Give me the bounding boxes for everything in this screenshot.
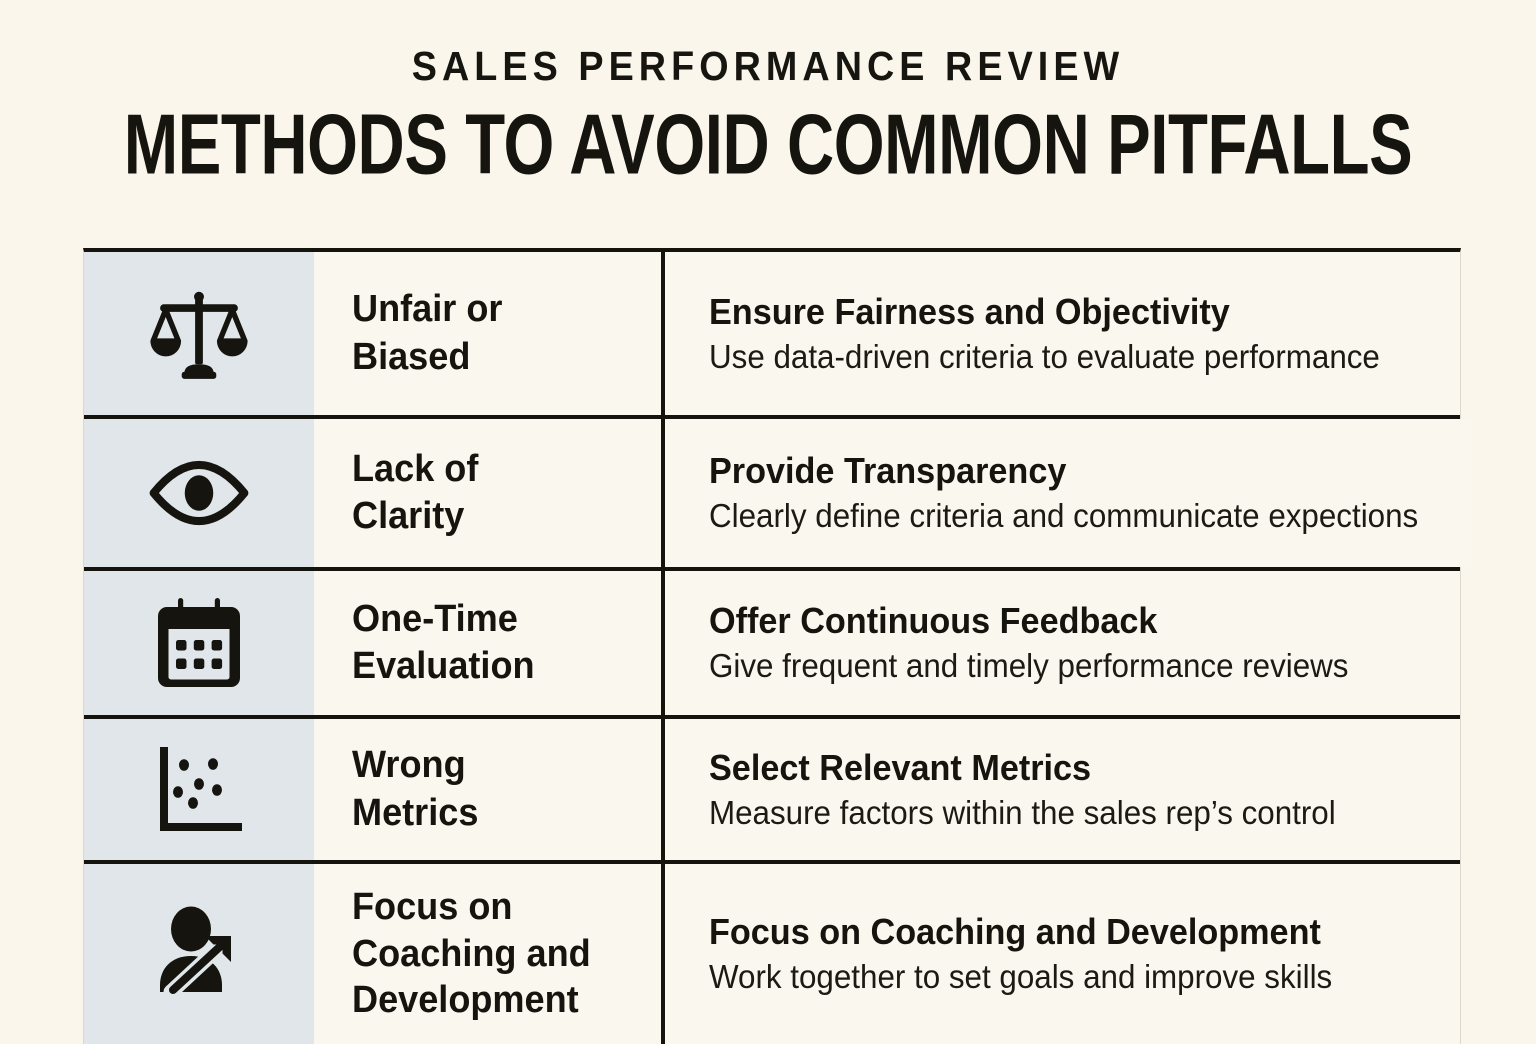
icon-cell <box>84 419 314 567</box>
pitfall-label: Unfair or Biased <box>352 286 502 380</box>
pitfall-label: Wrong Metrics <box>352 742 478 836</box>
pitfalls-table: Unfair or Biased Ensure Fairness and Obj… <box>83 248 1461 1044</box>
method-cell: Provide Transparency Clearly define crit… <box>665 419 1472 567</box>
method-title: Provide Transparency <box>709 451 1418 491</box>
pitfall-line: Focus on <box>352 884 591 931</box>
method-cell: Ensure Fairness and Objectivity Use data… <box>665 252 1460 415</box>
table-row: Lack of Clarity Provide Transparency Cle… <box>84 419 1460 571</box>
icon-cell <box>84 719 314 860</box>
method-description: Give frequent and timely performance rev… <box>709 647 1407 685</box>
pitfall-line: Coaching and <box>352 931 591 978</box>
pitfall-label: Lack of Clarity <box>352 446 478 540</box>
method-title: Select Relevant Metrics <box>709 748 1407 788</box>
icon-cell <box>84 571 314 715</box>
pitfall-line: Biased <box>352 334 502 381</box>
pitfall-cell: One-Time Evaluation <box>314 571 665 715</box>
method-cell: Offer Continuous Feedback Give frequent … <box>665 571 1460 715</box>
method-description: Measure factors within the sales rep’s c… <box>709 794 1407 832</box>
pitfall-cell: Unfair or Biased <box>314 252 665 415</box>
method-title: Ensure Fairness and Objectivity <box>709 292 1407 332</box>
method-description: Use data-driven criteria to evaluate per… <box>709 338 1407 376</box>
pitfall-line: Evaluation <box>352 643 535 690</box>
pitfall-cell: Lack of Clarity <box>314 419 665 567</box>
scales-of-justice-icon <box>145 280 253 388</box>
pitfall-line: Development <box>352 977 591 1024</box>
pitfall-line: One-Time <box>352 596 535 643</box>
method-cell: Focus on Coaching and Development Work t… <box>665 864 1460 1044</box>
table-row: One-Time Evaluation Offer Continuous Fee… <box>84 571 1460 719</box>
person-growth-arrow-icon <box>149 904 249 1004</box>
page-title: METHODS TO AVOID COMMON PITFALLS <box>108 105 1429 187</box>
table-row: Wrong Metrics Select Relevant Metrics Me… <box>84 719 1460 864</box>
pitfall-cell: Wrong Metrics <box>314 719 665 860</box>
table-row: Focus on Coaching and Development Focus … <box>84 864 1460 1044</box>
method-title: Offer Continuous Feedback <box>709 601 1407 641</box>
icon-cell <box>84 864 314 1044</box>
method-title: Focus on Coaching and Development <box>709 912 1407 952</box>
kicker-label: SALES PERFORMANCE REVIEW <box>61 46 1474 87</box>
pitfall-cell: Focus on Coaching and Development <box>314 864 665 1044</box>
infographic-poster: SALES PERFORMANCE REVIEW METHODS TO AVOI… <box>0 0 1536 1024</box>
icon-cell <box>84 252 314 415</box>
eye-icon <box>145 439 253 547</box>
table-row: Unfair or Biased Ensure Fairness and Obj… <box>84 252 1460 419</box>
calendar-icon <box>149 593 249 693</box>
method-description: Work together to set goals and improve s… <box>709 958 1407 996</box>
pitfall-label: Focus on Coaching and Development <box>352 884 591 1024</box>
pitfall-line: Wrong <box>352 742 478 789</box>
method-cell: Select Relevant Metrics Measure factors … <box>665 719 1460 860</box>
pitfall-line: Metrics <box>352 790 478 837</box>
pitfall-label: One-Time Evaluation <box>352 596 535 690</box>
header: SALES PERFORMANCE REVIEW METHODS TO AVOI… <box>0 0 1536 178</box>
pitfall-line: Clarity <box>352 493 478 540</box>
pitfall-line: Unfair or <box>352 286 502 333</box>
scatter-plot-icon <box>149 740 249 840</box>
pitfall-line: Lack of <box>352 446 478 493</box>
method-description: Clearly define criteria and communicate … <box>709 497 1418 535</box>
